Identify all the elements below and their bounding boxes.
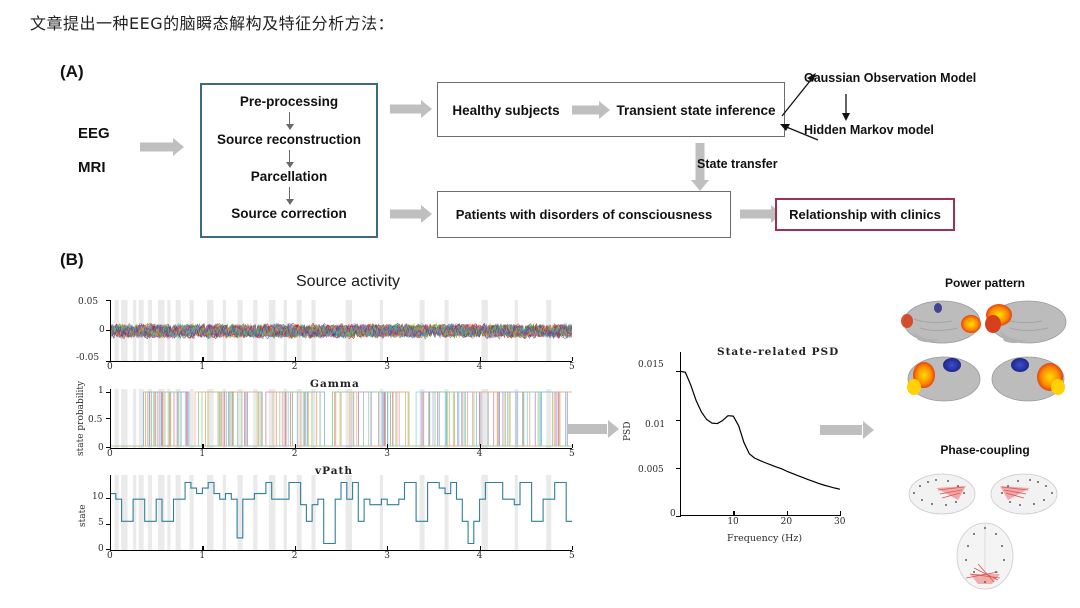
- x-tick-label: 4: [477, 362, 483, 372]
- psd-ytick-0015: 0.015: [638, 360, 664, 370]
- arrow-plots-to-psd: [567, 419, 619, 439]
- x-tick: [480, 357, 481, 361]
- y-tick: [106, 392, 111, 393]
- vpath-plot: [110, 475, 572, 551]
- phase-coupling-brains: [900, 462, 1070, 597]
- psd-y-tick: [676, 468, 681, 469]
- vpath-ytick-5: 5: [98, 518, 104, 528]
- phase-coupling-title: Phase-coupling: [905, 443, 1065, 457]
- arrow-pipeline-to-patients: [390, 205, 432, 223]
- arrow-gaussian-to-hmm: [838, 94, 854, 122]
- psd-x-tick-label: 10: [727, 517, 738, 527]
- y-tick: [106, 418, 111, 419]
- x-tick: [295, 357, 296, 361]
- power-pattern-brains: [900, 295, 1070, 405]
- x-tick: [480, 546, 481, 550]
- patients-box-label: Patients with disorders of consciousness: [456, 207, 712, 222]
- psd-x-tick: [840, 511, 841, 516]
- y-tick: [106, 300, 111, 301]
- healthy-subjects-label: Healthy subjects: [446, 103, 566, 118]
- x-tick: [387, 444, 388, 448]
- vpath-ytick-0: 0: [98, 544, 104, 554]
- gamma-ytick-1: 1: [98, 386, 104, 396]
- psd-ytick-0005: 0.005: [638, 465, 664, 475]
- state-transfer-label: State transfer: [697, 157, 778, 171]
- vpath-ytick-10: 10: [92, 492, 103, 502]
- x-tick: [202, 357, 203, 361]
- input-eeg: EEG: [78, 125, 110, 142]
- x-tick: [295, 546, 296, 550]
- source-activity-title: Source activity: [296, 273, 400, 291]
- x-tick: [572, 357, 573, 361]
- x-tick-label: 5: [569, 362, 575, 372]
- x-tick: [572, 444, 573, 448]
- x-tick-label: 1: [199, 362, 205, 372]
- source-activity-ytick-bot: -0.05: [76, 353, 99, 363]
- psd-xlabel: Frequency (Hz): [727, 533, 802, 544]
- input-mri: MRI: [78, 159, 106, 176]
- pipeline-step-parcellation: Parcellation: [200, 169, 378, 184]
- pipeline-step-source-correction: Source correction: [200, 206, 378, 221]
- y-tick: [106, 447, 111, 448]
- psd-x-tick: [787, 511, 788, 516]
- x-tick-label: 0: [107, 551, 113, 561]
- x-tick-label: 1: [199, 551, 205, 561]
- x-tick: [202, 444, 203, 448]
- x-tick: [480, 444, 481, 448]
- psd-ylabel: PSD: [623, 422, 633, 441]
- arrow-psd-to-brains: [820, 420, 874, 440]
- source-activity-plot: [110, 300, 572, 362]
- pipeline-step-source-reconstruction: Source reconstruction: [200, 132, 378, 147]
- arrow-inputs-to-pipeline: [140, 138, 184, 156]
- psd-x-tick: [733, 511, 734, 516]
- source-activity-xaxis: [110, 361, 572, 362]
- x-tick-label: 2: [292, 362, 298, 372]
- panel-b-letter: (B): [60, 250, 84, 270]
- psd-y-tick: [676, 516, 681, 517]
- psd-y-tick: [676, 371, 681, 372]
- gamma-plot: [110, 389, 572, 449]
- vpath-xaxis: [110, 550, 572, 551]
- x-tick-label: 3: [384, 362, 390, 372]
- x-tick-label: 2: [292, 551, 298, 561]
- y-tick: [106, 524, 111, 525]
- transient-state-inference-label: Transient state inference: [612, 103, 780, 118]
- psd-xaxis: [680, 515, 840, 516]
- clinics-box: Relationship with clinics: [775, 198, 955, 231]
- psd-plot: [680, 352, 840, 516]
- vpath-ylabel: state: [78, 504, 88, 527]
- patients-box: Patients with disorders of consciousness: [437, 191, 731, 238]
- power-pattern-title: Power pattern: [905, 276, 1065, 290]
- psd-x-tick-label: 30: [834, 517, 845, 527]
- psd-yaxis: [680, 352, 681, 516]
- x-tick-label: 3: [384, 551, 390, 561]
- hidden-markov-model-label: Hidden Markov model: [804, 123, 934, 137]
- psd-ytick-001: 0.01: [645, 420, 665, 430]
- y-tick: [106, 361, 111, 362]
- x-tick: [202, 546, 203, 550]
- psd-y-tick: [676, 420, 681, 421]
- gamma-ytick-0: 0: [98, 443, 104, 453]
- x-tick: [572, 546, 573, 550]
- page-title: 文章提出一种EEG的脑瞬态解构及特征分析方法：: [30, 10, 394, 34]
- x-tick-label: 3: [384, 449, 390, 459]
- pipeline-connector-1: [289, 112, 290, 129]
- x-tick-label: 0: [107, 362, 113, 372]
- x-tick-label: 4: [477, 551, 483, 561]
- arrow-healthy-to-inference: [572, 101, 610, 119]
- clinics-box-label: Relationship with clinics: [789, 207, 941, 222]
- y-tick: [106, 330, 111, 331]
- psd-ytick-0: 0: [670, 509, 676, 519]
- gaussian-observation-model-label: Gaussian Observation Model: [804, 71, 976, 85]
- y-tick: [106, 498, 111, 499]
- x-tick-label: 5: [569, 449, 575, 459]
- arrow-pipeline-to-healthy: [390, 100, 432, 118]
- x-tick-label: 4: [477, 449, 483, 459]
- x-tick: [295, 444, 296, 448]
- x-tick-label: 0: [107, 449, 113, 459]
- pipeline-connector-3: [289, 187, 290, 204]
- x-tick: [387, 546, 388, 550]
- vpath-yaxis: [110, 475, 111, 551]
- source-activity-ytick-top: 0.05: [78, 297, 98, 307]
- pipeline-step-preprocessing: Pre-processing: [200, 94, 378, 109]
- source-activity-ytick-mid: 0: [99, 325, 105, 335]
- gamma-xaxis: [110, 448, 572, 449]
- x-tick-label: 5: [569, 551, 575, 561]
- x-tick-label: 1: [199, 449, 205, 459]
- pipeline-connector-2: [289, 150, 290, 167]
- panel-a-letter: (A): [60, 62, 84, 82]
- gamma-ylabel: state probability: [76, 381, 86, 456]
- gamma-ytick-05: 0.5: [88, 415, 102, 425]
- x-tick-label: 2: [292, 449, 298, 459]
- x-tick: [387, 357, 388, 361]
- psd-x-tick-label: 20: [781, 517, 792, 527]
- y-tick: [106, 549, 111, 550]
